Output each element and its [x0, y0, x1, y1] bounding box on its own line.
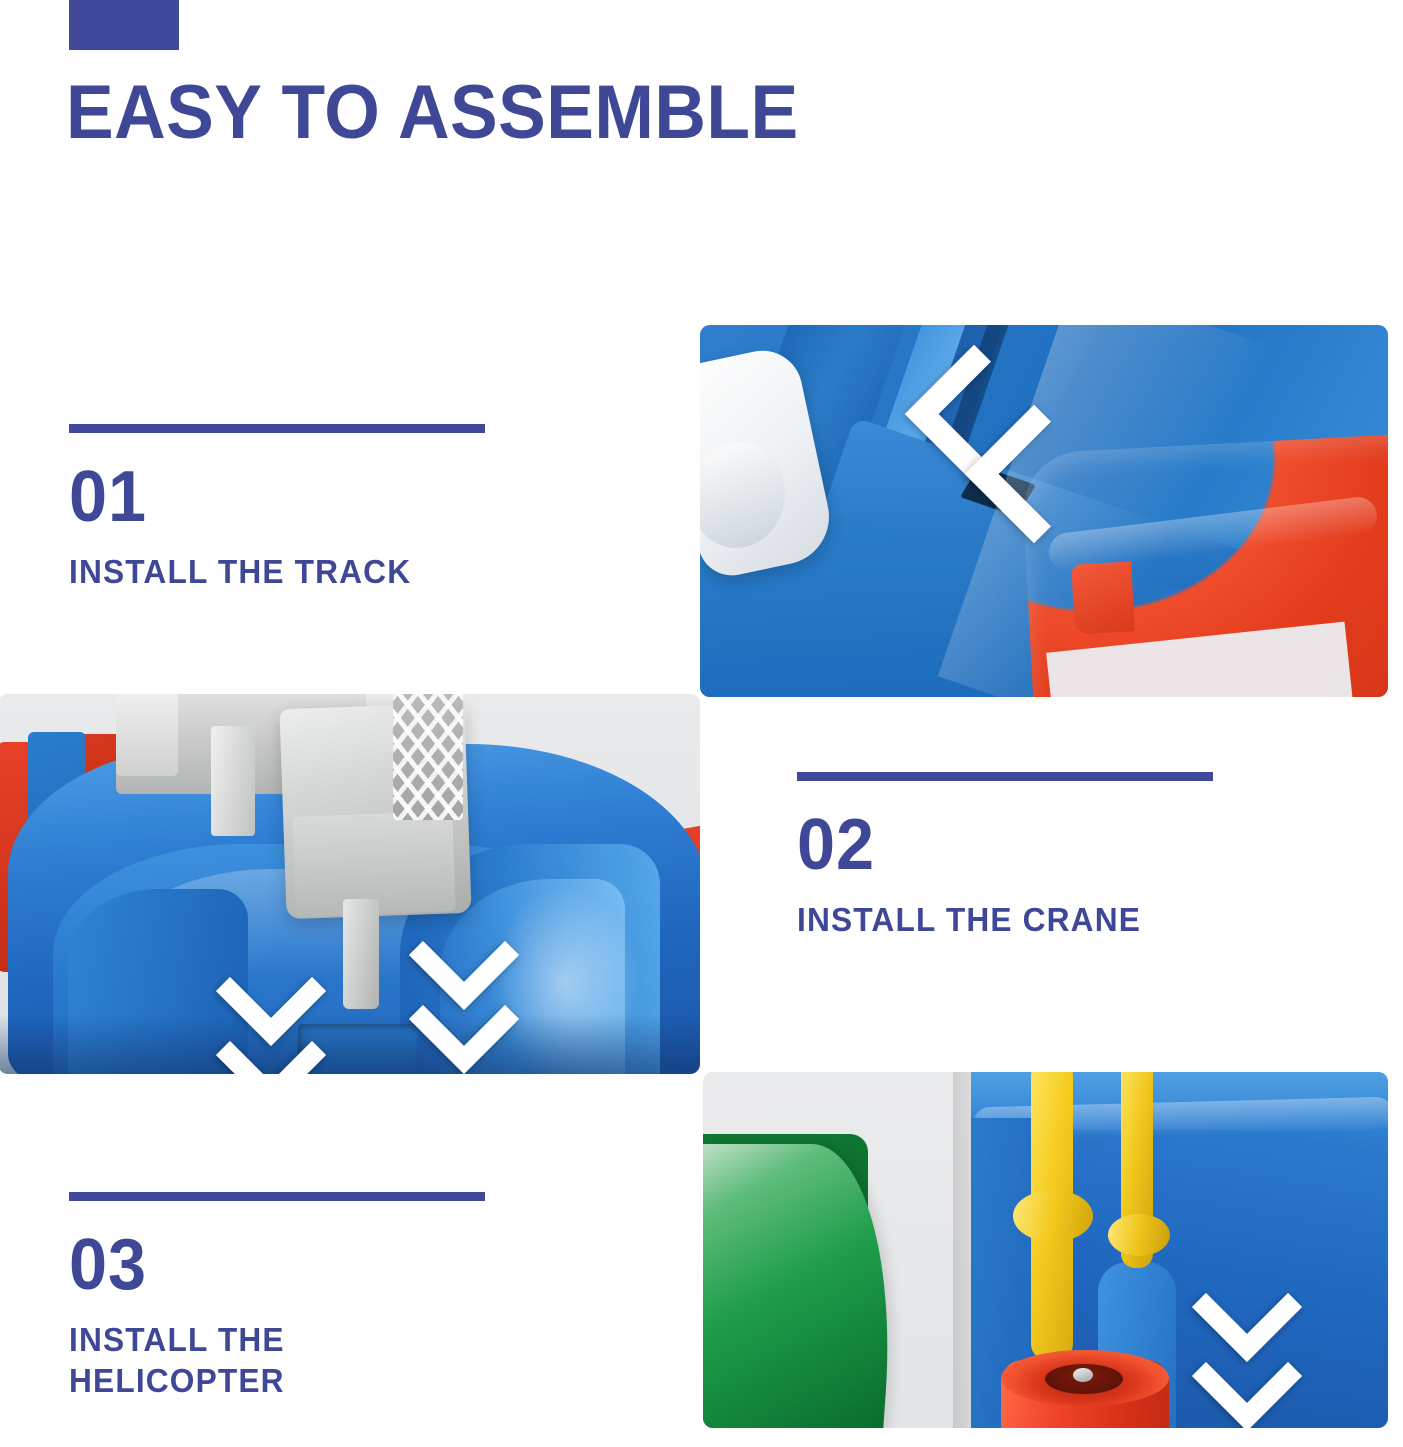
crane-mounting-peg — [343, 899, 379, 1009]
grey-crane-column — [211, 726, 255, 836]
step-block-01: 01 INSTALL THE TRACK — [69, 424, 499, 592]
helicopter-assembly-photo — [703, 1072, 1388, 1428]
bottom-shadow — [0, 1014, 700, 1074]
crane-assembly-photo — [0, 694, 700, 1074]
step-divider-rule — [69, 1192, 485, 1201]
metal-screw-icon — [1073, 1368, 1093, 1382]
step-number-03: 03 — [69, 1229, 478, 1301]
step-block-02: 02 INSTALL THE CRANE — [797, 772, 1227, 940]
yellow-collar-left — [1013, 1190, 1093, 1242]
crane-lattice-truss — [393, 694, 463, 820]
step-block-03: 03 INSTALL THE HELICOPTER — [69, 1192, 499, 1401]
step-label-01: INSTALL THE TRACK — [69, 551, 482, 592]
step-label-03: INSTALL THE HELICOPTER — [69, 1319, 482, 1401]
red-track-connector — [1071, 561, 1135, 634]
step-divider-rule — [69, 424, 485, 433]
grey-crane-housing-top — [116, 694, 178, 776]
step-number-02: 02 — [797, 809, 1206, 881]
header-accent-square — [69, 0, 179, 50]
page-title: EASY TO ASSEMBLE — [66, 70, 799, 156]
step-label-02: INSTALL THE CRANE — [797, 899, 1210, 940]
track-assembly-photo — [700, 325, 1388, 697]
yellow-collar-right — [1108, 1214, 1170, 1256]
step-divider-rule — [797, 772, 1213, 781]
step-number-01: 01 — [69, 461, 478, 533]
